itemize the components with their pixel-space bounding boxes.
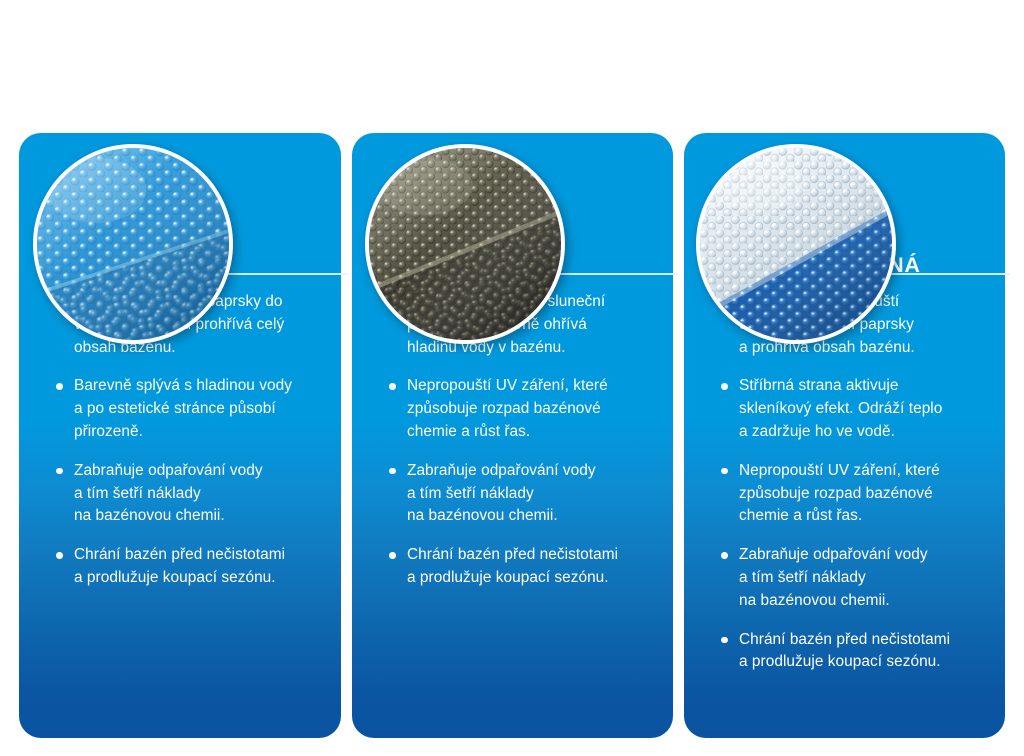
benefit-text: Nepropouští UV záření, které způsobuje r… xyxy=(407,375,663,443)
product-photo-frame-modrostribrna xyxy=(696,144,896,344)
benefit-list-modrostribrna: Modrá strana propouští do vody sluneční … xyxy=(716,291,995,674)
list-item: Zabraňuje odpařování vody a tím šetří ná… xyxy=(384,460,663,528)
benefit-text: Zabraňuje odpařování vody a tím šetří ná… xyxy=(74,460,331,528)
infographic-canvas: MODRÁ Propouští sluneční paprsky do vody… xyxy=(0,0,1024,756)
black-bubble-pool-cover-photo xyxy=(368,147,562,341)
bullet-dot-icon xyxy=(721,637,728,644)
benefit-text: Barevně splývá s hladinou vody a po este… xyxy=(74,375,331,443)
bullet-dot-icon xyxy=(56,552,63,559)
product-card-modra: MODRÁ Propouští sluneční paprsky do vody… xyxy=(19,133,341,738)
list-item: Zabraňuje odpařování vody a tím šetří ná… xyxy=(51,460,331,528)
list-item: Stříbrná strana aktivuje skleníkový efek… xyxy=(716,375,995,443)
bullet-dot-icon xyxy=(56,468,63,475)
benefit-text: Chrání bazén před nečistotami a prodlužu… xyxy=(74,544,331,590)
list-item: Chrání bazén před nečistotami a prodlužu… xyxy=(716,629,995,675)
list-item: Nepropouští UV záření, které způsobuje r… xyxy=(384,375,663,443)
bullet-dot-icon xyxy=(721,383,728,390)
product-card-modrostribrna: MODROSTŘÍBRNÁ Modrá strana propouští do … xyxy=(684,133,1005,738)
benefit-text: Nepropouští UV záření, které způsobuje r… xyxy=(739,460,995,528)
blue-bubble-texture-icon xyxy=(37,148,229,340)
list-item: Barevně splývá s hladinou vody a po este… xyxy=(51,375,331,443)
bullet-dot-icon xyxy=(389,383,396,390)
bullet-dot-icon xyxy=(389,468,396,475)
list-item: Zabraňuje odpařování vody a tím šetří ná… xyxy=(716,544,995,612)
list-item: Chrání bazén před nečistotami a prodlužu… xyxy=(51,544,331,590)
bullet-dot-icon xyxy=(721,552,728,559)
product-photo-frame-cerna xyxy=(365,144,565,344)
blue-silver-bubble-texture-icon xyxy=(700,148,892,340)
product-photo-frame-modra xyxy=(33,144,233,344)
product-card-cerna: ČERNÁ Přitahuje a pohlcuje sluneční papr… xyxy=(352,133,673,738)
benefit-text: Stříbrná strana aktivuje skleníkový efek… xyxy=(739,375,995,443)
benefit-text: Zabraňuje odpařování vody a tím šetří ná… xyxy=(407,460,663,528)
bullet-dot-icon xyxy=(56,383,63,390)
benefit-text: Zabraňuje odpařování vody a tím šetří ná… xyxy=(739,544,995,612)
benefit-text: Chrání bazén před nečistotami a prodlužu… xyxy=(739,629,995,675)
black-bubble-texture-icon xyxy=(369,148,561,340)
benefit-text: Chrání bazén před nečistotami a prodlužu… xyxy=(407,544,663,590)
bullet-dot-icon xyxy=(721,468,728,475)
list-item: Nepropouští UV záření, které způsobuje r… xyxy=(716,460,995,528)
list-item: Chrání bazén před nečistotami a prodlužu… xyxy=(384,544,663,590)
blue-silver-bubble-pool-cover-photo xyxy=(699,147,893,341)
bullet-dot-icon xyxy=(389,552,396,559)
blue-bubble-pool-cover-photo xyxy=(36,147,230,341)
